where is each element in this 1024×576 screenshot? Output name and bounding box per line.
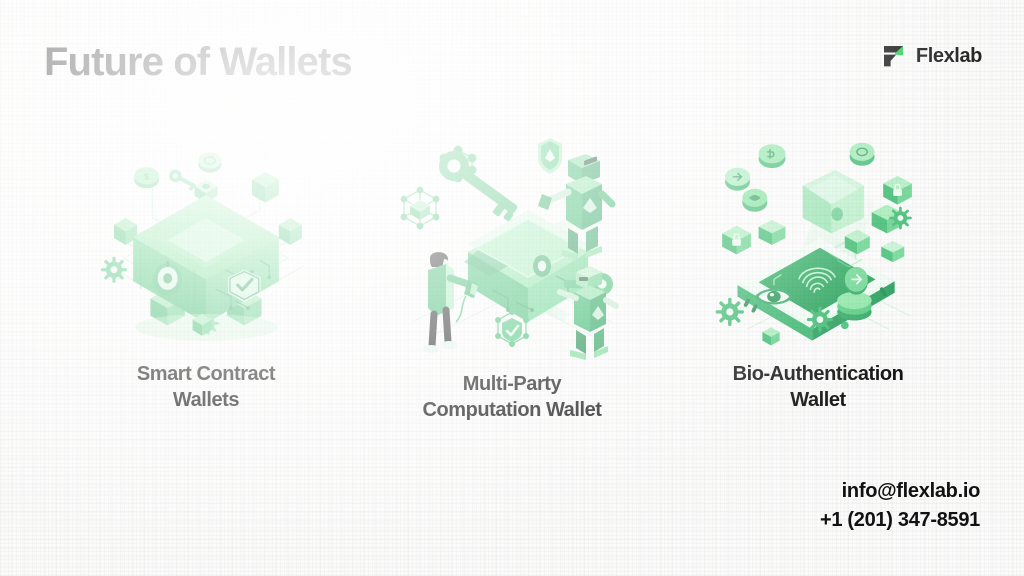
isometric-vault-cube-blockchain-illustration: $ (91, 126, 321, 356)
slide-canvas: Future of Wallets Flexlab (0, 0, 1024, 576)
feature-caption: Multi-Party Computation Wallet (423, 372, 602, 423)
feature-columns: $ (0, 126, 1024, 423)
feature-card-multi-party-computation-wallet: Multi-Party Computation Wallet (362, 126, 662, 423)
feature-caption: Smart Contract Wallets (137, 362, 275, 413)
contact-phone[interactable]: +1 (201) 347-8591 (820, 506, 980, 534)
brand-name: Flexlab (916, 45, 982, 68)
isometric-phone-biometric-illustration (703, 126, 933, 356)
feature-card-smart-contract-wallets: $ (56, 126, 356, 423)
svg-text:$: $ (144, 172, 149, 182)
contact-block: info@flexlab.io +1 (201) 347-8591 (820, 477, 980, 534)
page-title: Future of Wallets (44, 40, 352, 85)
contact-email[interactable]: info@flexlab.io (820, 477, 980, 505)
feature-card-bio-authentication-wallet: Bio-Authentication Wallet (668, 126, 968, 423)
flexlab-f-logo-icon (881, 43, 907, 69)
feature-caption: Bio-Authentication Wallet (733, 362, 904, 413)
brand-logo: Flexlab (881, 43, 982, 69)
isometric-shared-key-wallet-illustration (392, 126, 632, 366)
